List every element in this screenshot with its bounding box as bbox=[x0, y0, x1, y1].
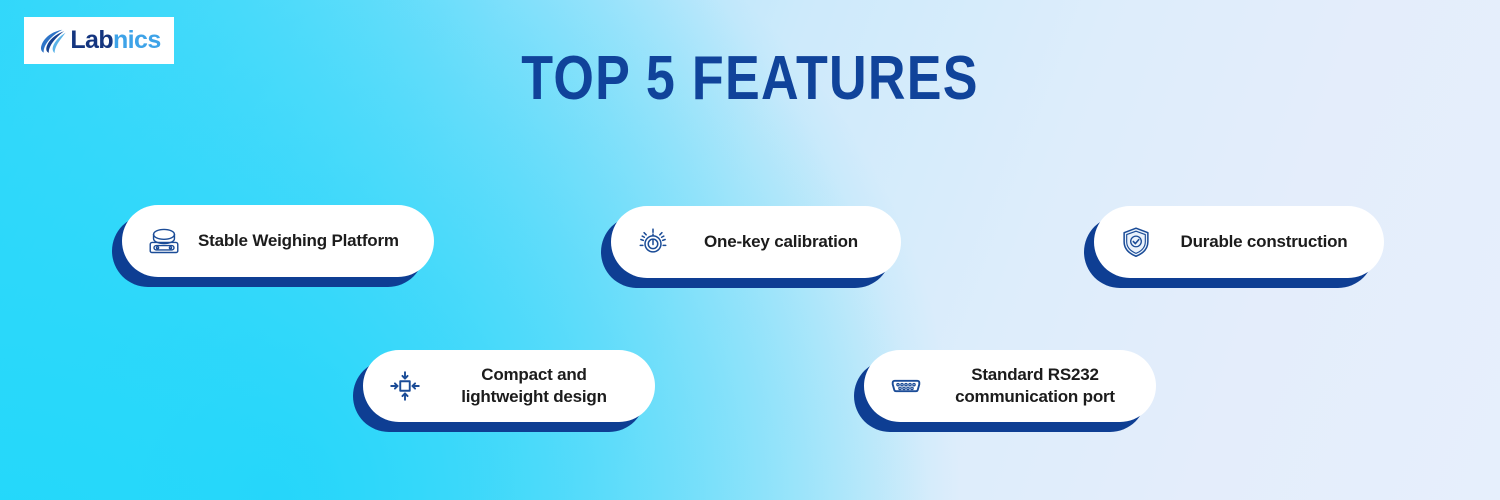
page-title: TOP 5 FEATURES bbox=[120, 48, 1380, 110]
card-face: Compact and lightweight design bbox=[363, 350, 655, 422]
card-face: Standard RS232 communication port bbox=[864, 350, 1156, 422]
serial-port-icon bbox=[886, 366, 926, 406]
card-face: Stable Weighing Platform bbox=[122, 205, 434, 277]
feature-label: One-key calibration bbox=[687, 231, 875, 253]
features-banner: Labnics TOP 5 FEATURES Stable Weighing P… bbox=[0, 0, 1500, 500]
wave-swoosh-icon bbox=[37, 26, 67, 56]
feature-card-one-key-calibration[interactable]: One-key calibration bbox=[611, 206, 901, 278]
compress-arrows-icon bbox=[385, 366, 425, 406]
feature-label: Standard RS232 communication port bbox=[940, 364, 1130, 408]
feature-label: Compact and lightweight design bbox=[439, 364, 629, 408]
feature-label: Durable construction bbox=[1170, 231, 1358, 253]
feature-card-rs232-communication-port[interactable]: Standard RS232 communication port bbox=[864, 350, 1156, 422]
brand-name-dark: Lab bbox=[70, 26, 113, 54]
card-face: Durable construction bbox=[1094, 206, 1384, 278]
power-calibration-icon bbox=[633, 222, 673, 262]
feature-card-stable-weighing-platform[interactable]: Stable Weighing Platform bbox=[122, 205, 434, 277]
weighing-balance-icon bbox=[144, 221, 184, 261]
feature-card-compact-lightweight-design[interactable]: Compact and lightweight design bbox=[363, 350, 655, 422]
card-face: One-key calibration bbox=[611, 206, 901, 278]
shield-check-icon bbox=[1116, 222, 1156, 262]
feature-label: Stable Weighing Platform bbox=[198, 230, 399, 252]
feature-card-durable-construction[interactable]: Durable construction bbox=[1094, 206, 1384, 278]
